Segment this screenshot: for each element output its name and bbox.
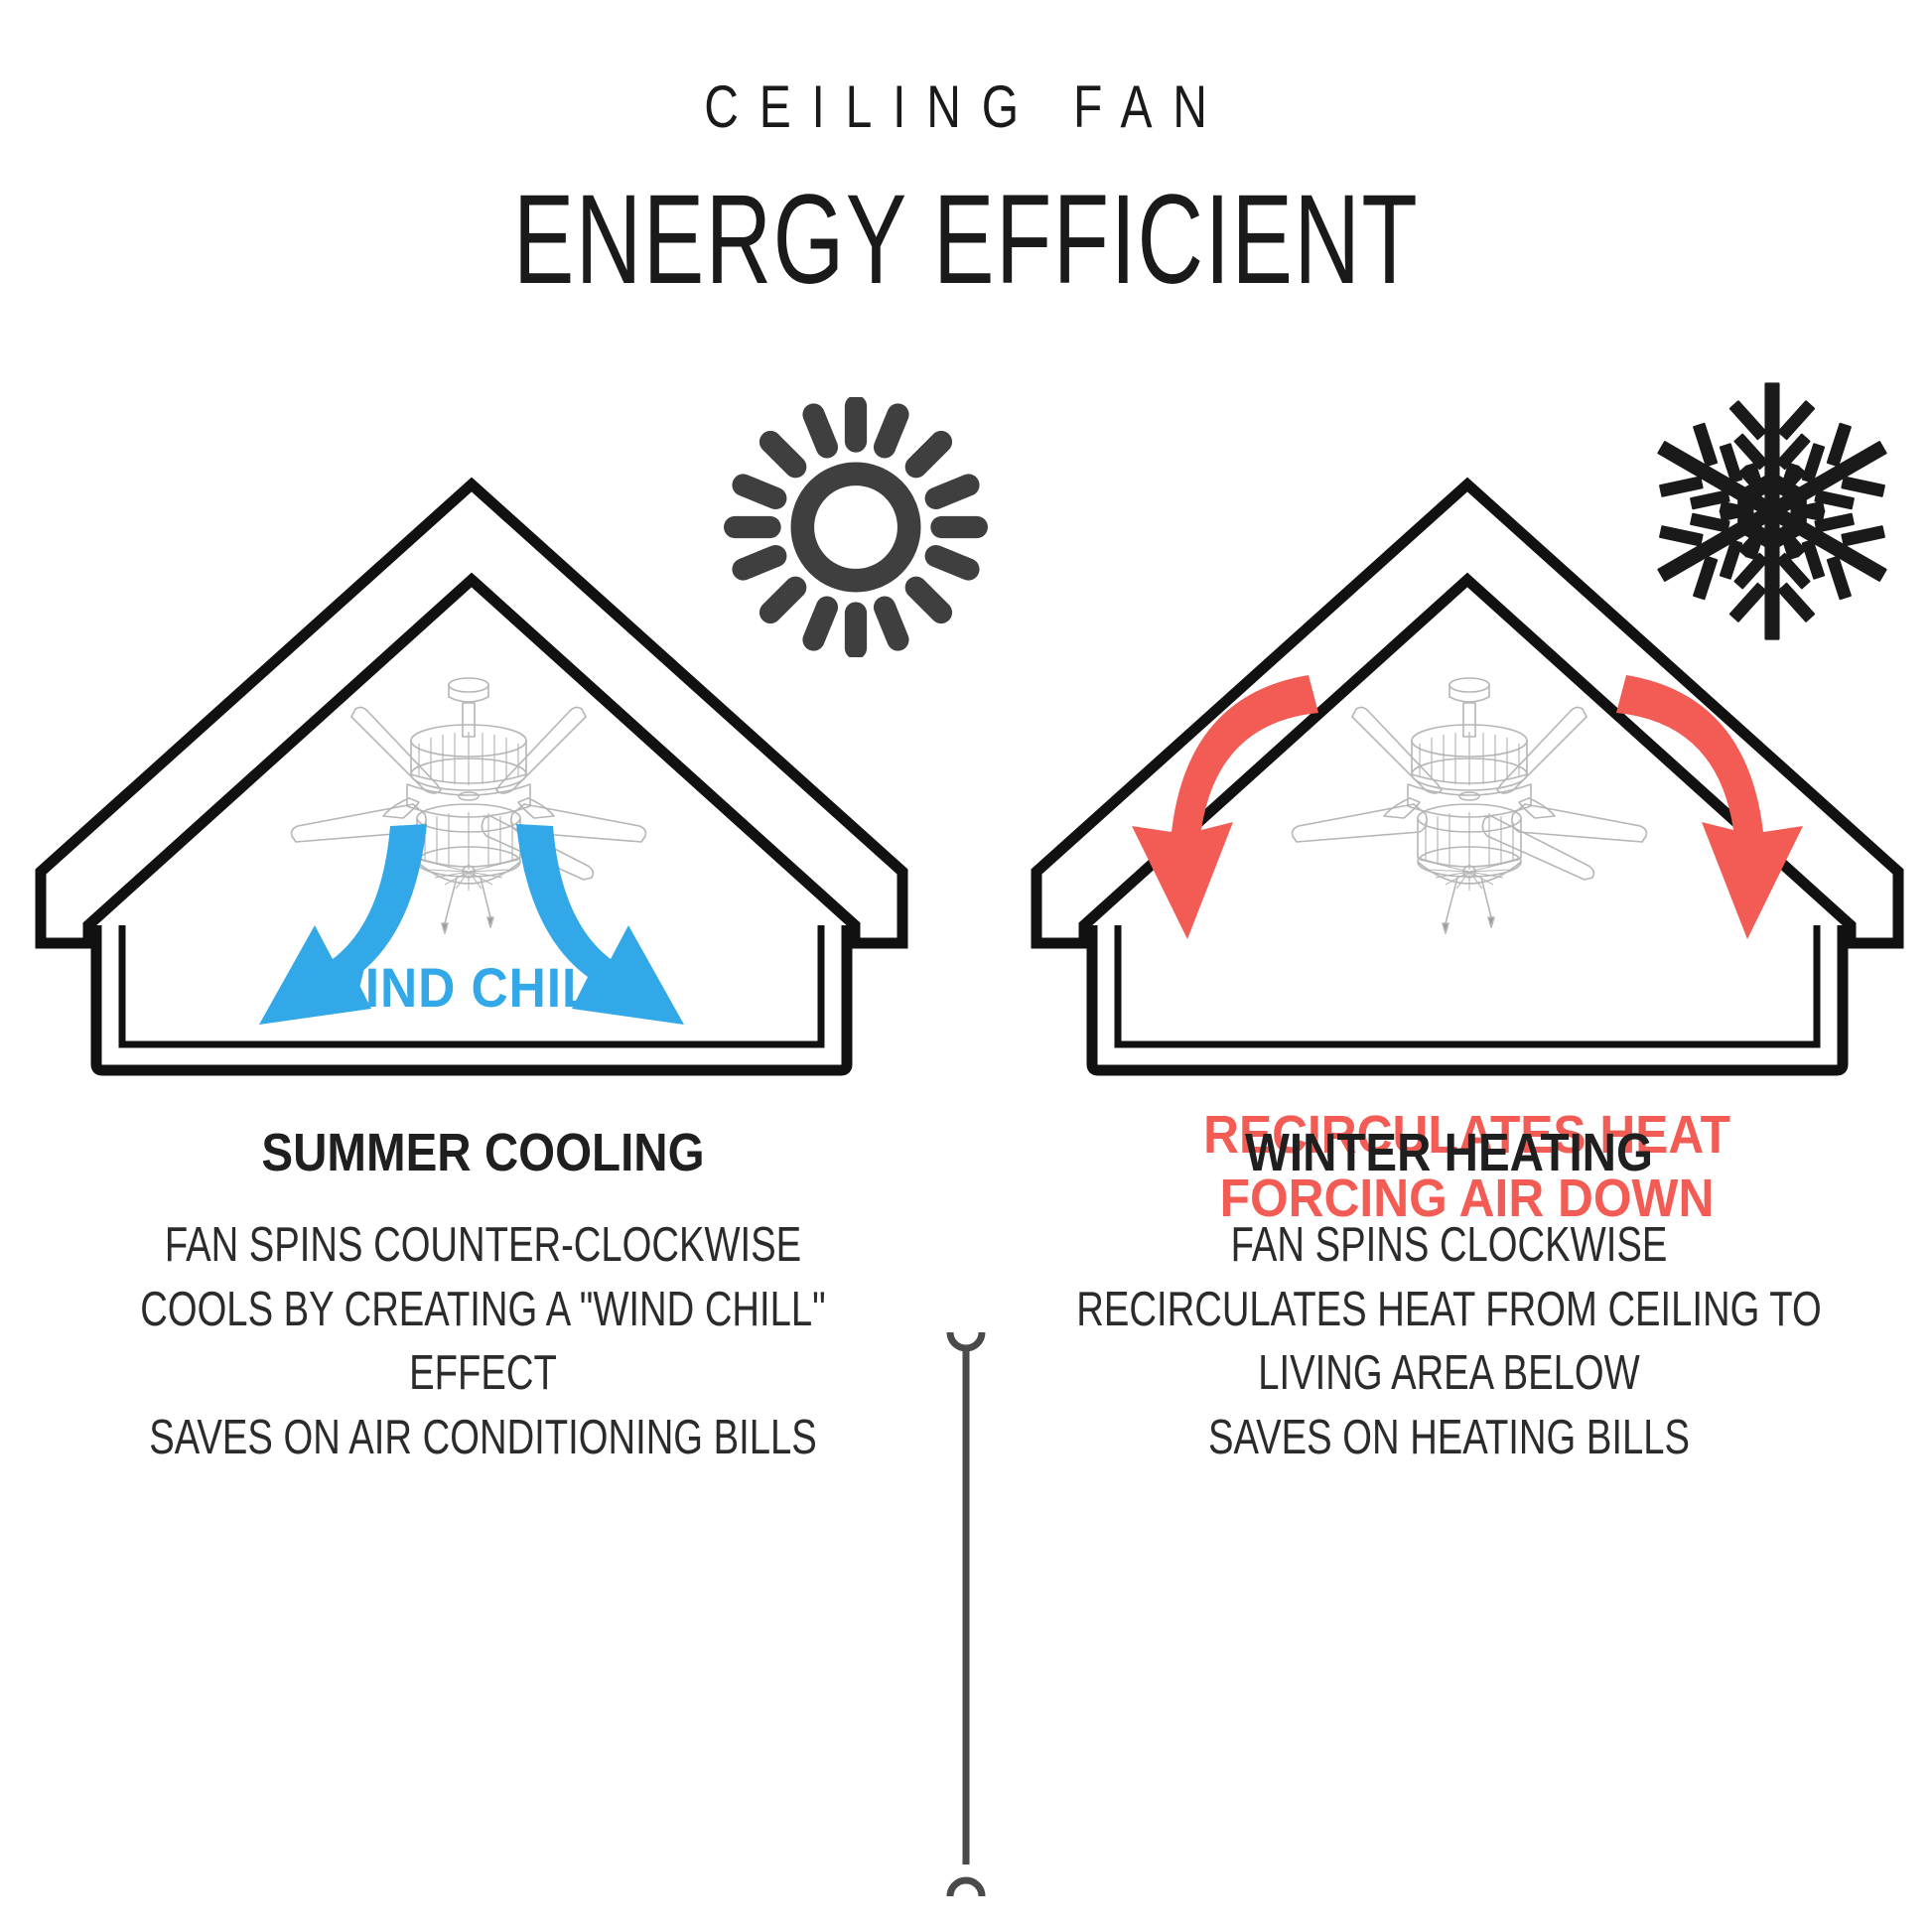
panel-summer: WIND CHILL SUMMER COOLING FAN SPINS COUN… — [0, 0, 966, 1932]
body-copy-winter: FAN SPINS CLOCKWISE RECIRCULATES HEAT FR… — [966, 1213, 1932, 1470]
body-line: COOLS BY CREATING A "WIND CHILL" — [106, 1278, 860, 1342]
callout-wind-chill: WIND CHILL — [27, 955, 915, 1021]
section-title-winter: WINTER HEATING — [1024, 1122, 1873, 1183]
body-copy-summer: FAN SPINS COUNTER-CLOCKWISE COOLS BY CRE… — [0, 1213, 966, 1470]
body-line: EFFECT — [106, 1341, 860, 1406]
section-title-summer: SUMMER COOLING — [58, 1122, 907, 1183]
body-line: SAVES ON HEATING BILLS — [1072, 1406, 1826, 1470]
body-line: FAN SPINS COUNTER-CLOCKWISE — [106, 1213, 860, 1278]
vertical-divider-icon — [926, 1326, 1006, 1902]
body-line: SAVES ON AIR CONDITIONING BILLS — [106, 1406, 860, 1470]
body-line: FAN SPINS CLOCKWISE — [1072, 1213, 1826, 1278]
body-line: RECIRCULATES HEAT FROM CEILING TO — [1072, 1278, 1826, 1342]
body-line: LIVING AREA BELOW — [1072, 1341, 1826, 1406]
airflow-arrows-warm — [1021, 655, 1914, 1072]
infographic-canvas: CEILING FAN ENERGY EFFICIENT — [0, 0, 1932, 1932]
panel-winter: RECIRCULATES HEAT FORCING AIR DOWN WINTE… — [966, 0, 1932, 1932]
